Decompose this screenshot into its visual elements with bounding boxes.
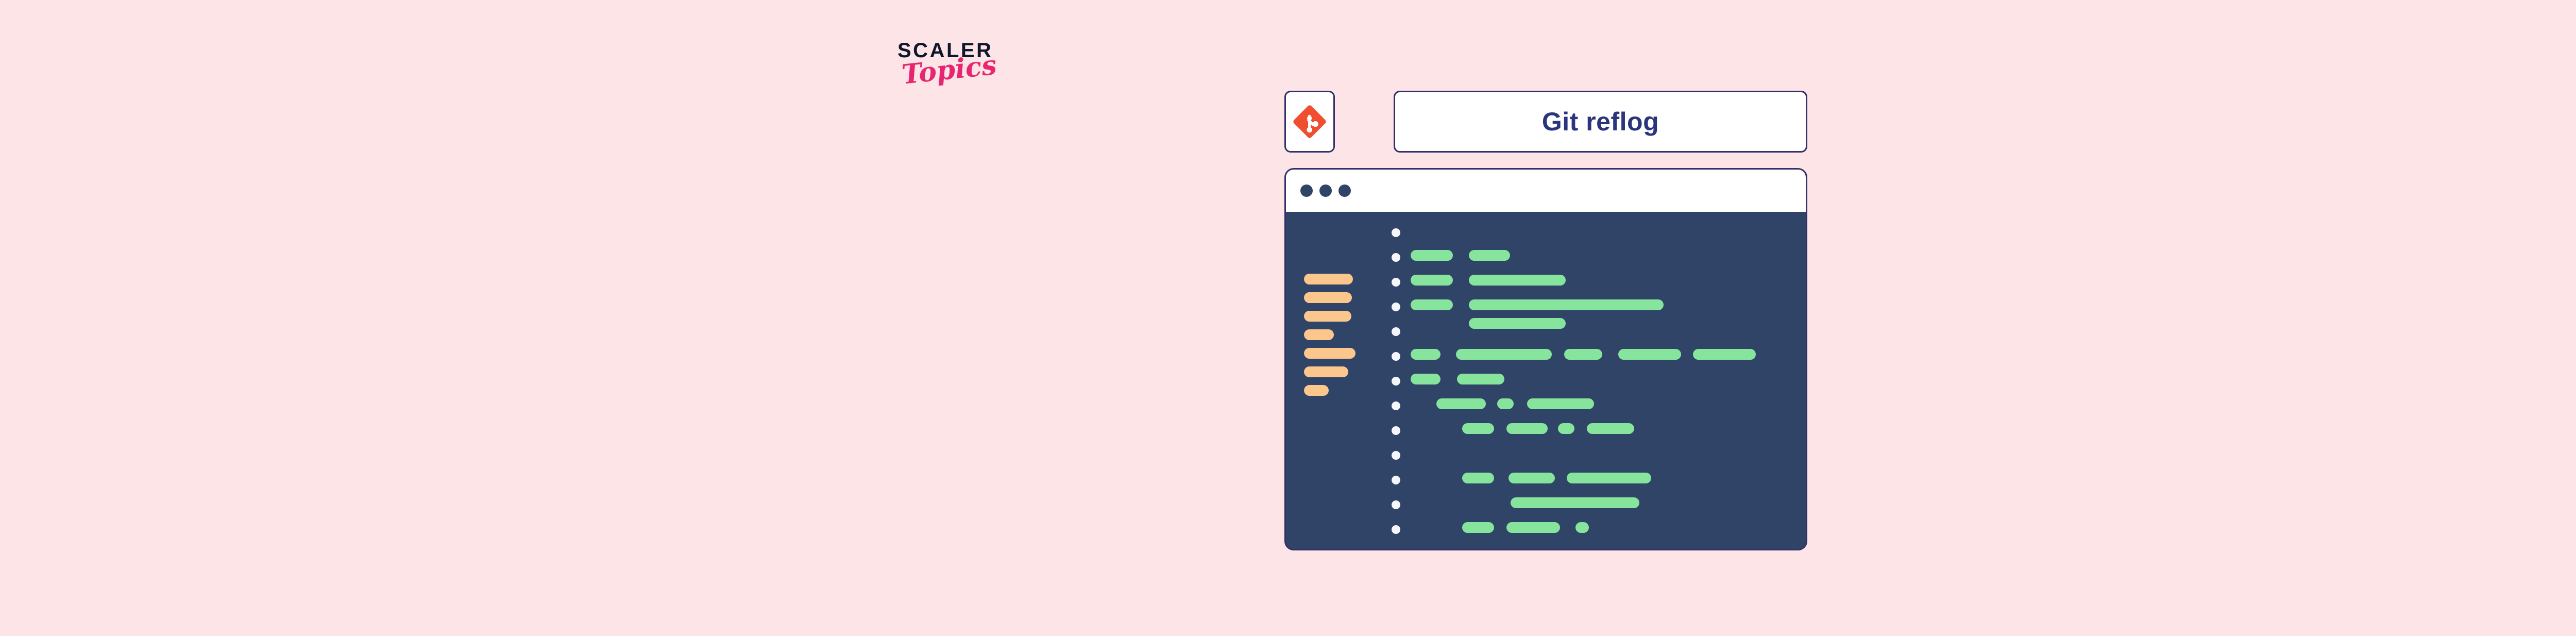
code-token-bar — [1411, 275, 1453, 286]
code-line-bullet — [1392, 451, 1400, 460]
code-line-bullet — [1392, 500, 1400, 509]
code-token-bar — [1511, 497, 1639, 508]
code-token-bar — [1558, 423, 1574, 434]
code-token-bar — [1457, 374, 1504, 384]
code-token-bar — [1469, 299, 1664, 310]
window-dot-close-icon[interactable] — [1300, 185, 1313, 197]
code-token-bar — [1509, 473, 1555, 483]
code-token-bar — [1469, 318, 1566, 329]
code-token-bar — [1469, 275, 1566, 286]
code-line-bullet — [1392, 377, 1400, 386]
terminal-titlebar — [1286, 170, 1806, 212]
page-title: Git reflog — [1542, 107, 1659, 137]
code-token-bar — [1693, 349, 1756, 360]
code-line-bullet — [1392, 228, 1400, 237]
page-canvas: SCALER Topics Git reflog — [0, 0, 2576, 636]
page-title-box: Git reflog — [1394, 91, 1807, 153]
git-icon-box — [1284, 91, 1335, 153]
code-token-bar — [1436, 398, 1486, 409]
code-line-bullet — [1392, 426, 1400, 435]
code-token-bar — [1462, 473, 1494, 483]
code-line-bullet — [1392, 401, 1400, 410]
logo-wordmark-topics: Topics — [901, 52, 998, 89]
code-line-bullet — [1392, 278, 1400, 287]
git-logo-icon — [1293, 105, 1327, 139]
code-line-bullet — [1392, 525, 1400, 534]
code-terminal-window — [1284, 168, 1807, 550]
code-token-bar — [1567, 473, 1651, 483]
code-token-bar — [1497, 398, 1514, 409]
code-token-bar — [1411, 374, 1440, 384]
prompt-token-bar — [1304, 311, 1351, 322]
code-token-bar — [1462, 522, 1494, 533]
code-token-bar — [1506, 522, 1560, 533]
terminal-body — [1286, 212, 1806, 549]
code-token-bar — [1618, 349, 1681, 360]
prompt-token-bar — [1304, 366, 1348, 377]
code-line-bullet — [1392, 327, 1400, 336]
code-token-bar — [1411, 250, 1453, 261]
code-token-bar — [1456, 349, 1552, 360]
code-token-bar — [1411, 349, 1440, 360]
code-token-bar — [1564, 349, 1602, 360]
prompt-token-bar — [1304, 292, 1352, 303]
code-token-bar — [1527, 398, 1594, 409]
code-line-bullet — [1392, 476, 1400, 484]
window-dot-minimize-icon[interactable] — [1319, 185, 1332, 197]
code-line-bullet — [1392, 352, 1400, 361]
prompt-token-bar — [1304, 329, 1334, 340]
code-token-bar — [1587, 423, 1634, 434]
code-token-bar — [1506, 423, 1548, 434]
code-token-bar — [1462, 423, 1494, 434]
code-token-bar — [1469, 250, 1510, 261]
prompt-token-bar — [1304, 274, 1353, 284]
code-token-bar — [1411, 299, 1453, 310]
scaler-topics-logo: SCALER Topics — [897, 40, 1031, 112]
code-line-bullet — [1392, 253, 1400, 262]
prompt-token-bar — [1304, 385, 1329, 396]
prompt-token-bar — [1304, 348, 1355, 359]
code-line-bullet — [1392, 303, 1400, 311]
window-dot-maximize-icon[interactable] — [1338, 185, 1351, 197]
code-token-bar — [1575, 522, 1589, 533]
